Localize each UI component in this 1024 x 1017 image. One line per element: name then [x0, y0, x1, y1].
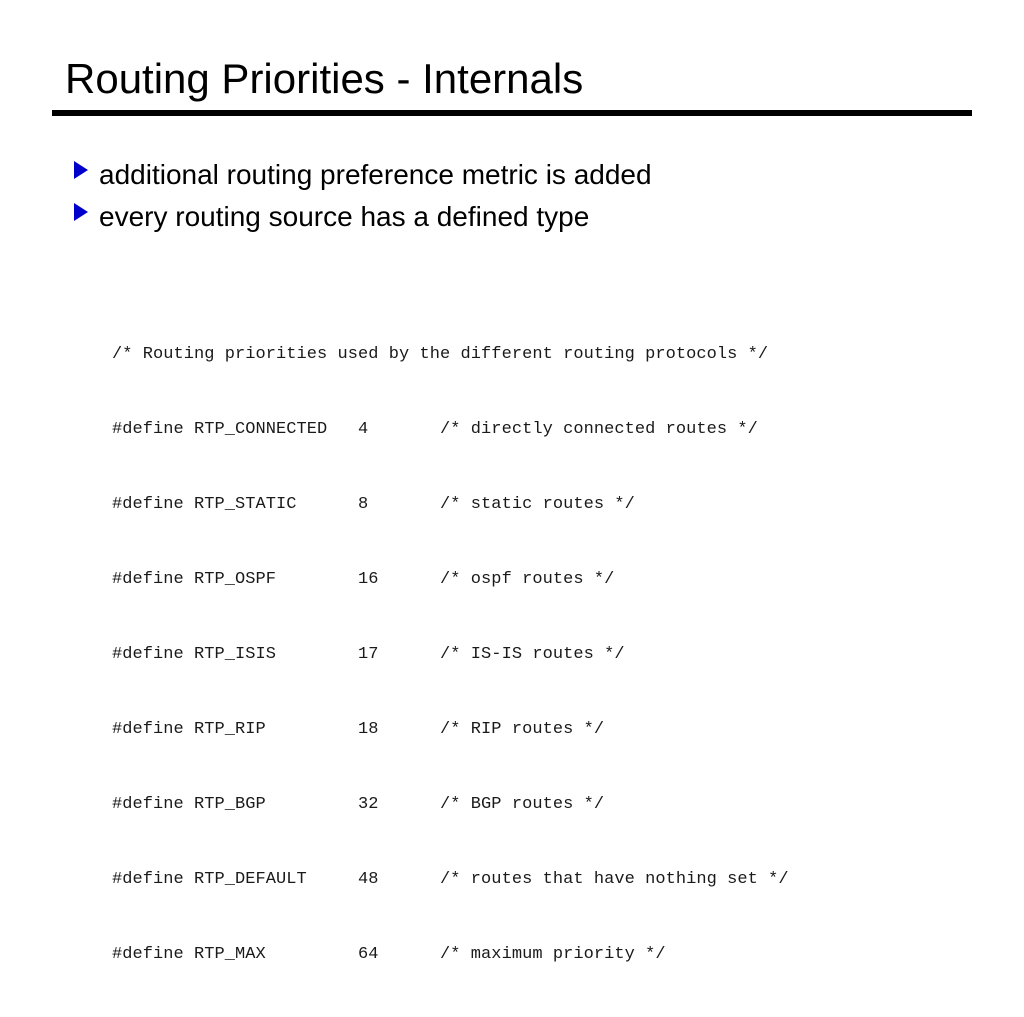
- code-line: #define RTP_BGP 32 /* BGP routes */: [112, 792, 789, 817]
- slide: Routing Priorities - Internals additiona…: [0, 0, 1024, 768]
- code-line: #define RTP_RIP 18 /* RIP routes */: [112, 717, 789, 742]
- list-item: every routing source has a defined type: [74, 200, 974, 242]
- bullet-text: additional routing preference metric is …: [99, 158, 652, 192]
- code-line: #define RTP_MAX 64 /* maximum priority *…: [112, 942, 789, 967]
- code-line: #define RTP_CONNECTED 4 /* directly conn…: [112, 417, 789, 442]
- triangle-right-bullet-icon: [74, 161, 88, 179]
- code-line: /* Routing priorities used by the differ…: [112, 342, 789, 367]
- page-title: Routing Priorities - Internals: [65, 54, 583, 104]
- code-line: #define RTP_STATIC 8 /* static routes */: [112, 492, 789, 517]
- title-divider: [52, 110, 972, 116]
- code-block: /* Routing priorities used by the differ…: [112, 292, 789, 1017]
- code-line: #define RTP_DEFAULT 48 /* routes that ha…: [112, 867, 789, 892]
- code-line: #define RTP_ISIS 17 /* IS-IS routes */: [112, 642, 789, 667]
- list-item: additional routing preference metric is …: [74, 158, 974, 200]
- bullet-list: additional routing preference metric is …: [74, 158, 974, 242]
- code-line: #define RTP_OSPF 16 /* ospf routes */: [112, 567, 789, 592]
- triangle-right-bullet-icon: [74, 203, 88, 221]
- bullet-text: every routing source has a defined type: [99, 200, 589, 234]
